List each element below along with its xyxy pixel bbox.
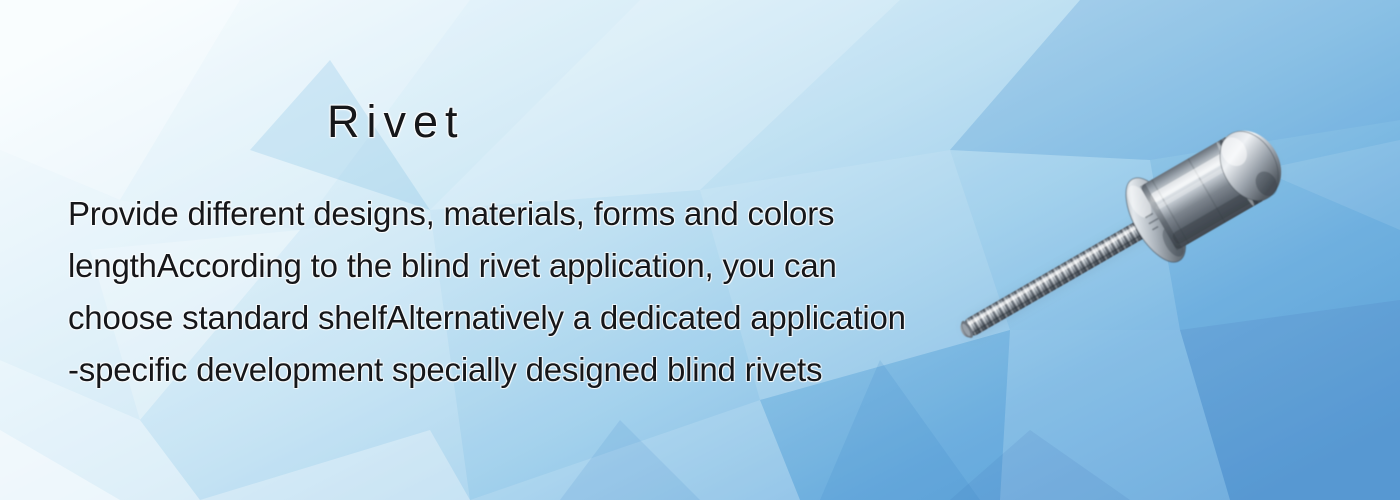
description-line-3: choose standard shelfAlternatively a ded… [68,292,988,344]
banner-text-layer: Rivet Provide different designs, materia… [0,0,1400,500]
description-block: Provide different designs, materials, fo… [68,188,988,396]
page-title: Rivet [327,96,465,148]
description-line-4: -specific development specially designed… [68,344,988,396]
description-line-2: lengthAccording to the blind rivet appli… [68,240,988,292]
product-banner: Rivet Provide different designs, materia… [0,0,1400,500]
description-line-1: Provide different designs, materials, fo… [68,188,988,240]
